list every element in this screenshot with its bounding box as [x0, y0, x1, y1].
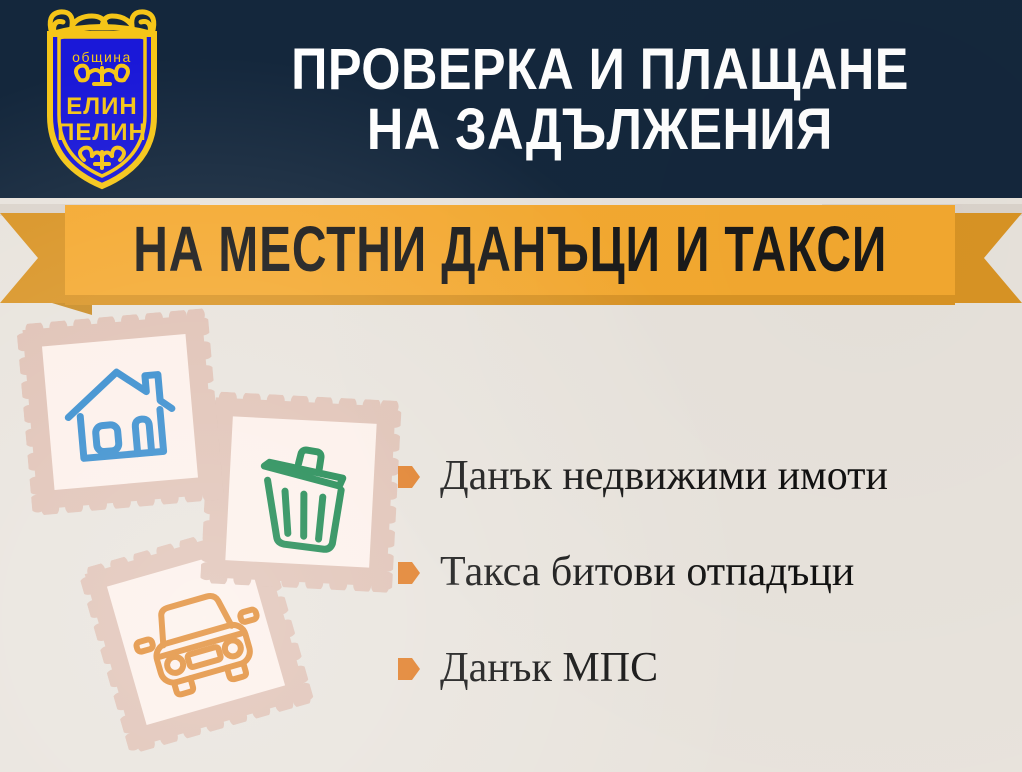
- stamp-scalloped-frame: [200, 391, 402, 593]
- title-line-2: НА ЗАДЪЛЖЕНИЯ: [367, 100, 833, 160]
- municipality-logo: община ЕЛИН ПЕЛИН: [22, 4, 182, 194]
- arrow-bullet-icon: [398, 560, 420, 586]
- stamp-card-property: [16, 308, 224, 516]
- list-item[interactable]: Данък недвижими имоти: [398, 428, 1018, 524]
- tax-type-list: Данък недвижими имоти Такса битови отпад…: [398, 428, 1018, 716]
- list-item-label: Данък МПС: [440, 646, 658, 690]
- ribbon-drop-shadow: [65, 295, 955, 305]
- list-item-label: Данък недвижими имоти: [440, 454, 888, 498]
- poster-canvas: община ЕЛИН ПЕЛИН ПРОВЕРКА И П: [0, 0, 1022, 772]
- list-item[interactable]: Такса битови отпадъци: [398, 524, 1018, 620]
- ribbon-label: НА МЕСТНИ ДАНЪЦИ И ТАКСИ: [133, 218, 887, 282]
- stamp-card-waste: [200, 391, 402, 593]
- list-item[interactable]: Данък МПС: [398, 620, 1018, 716]
- title-line-1: ПРОВЕРКА И ПЛАЩАНЕ: [291, 40, 909, 100]
- stamp-scalloped-frame: [16, 308, 224, 516]
- svg-text:община: община: [72, 49, 132, 65]
- subtitle-ribbon: НА МЕСТНИ ДАНЪЦИ И ТАКСИ: [0, 196, 1022, 314]
- ribbon-band: НА МЕСТНИ ДАНЪЦИ И ТАКСИ: [65, 205, 955, 295]
- list-item-label: Такса битови отпадъци: [440, 550, 854, 594]
- poster-title: ПРОВЕРКА И ПЛАЩАНЕ НА ЗАДЪЛЖЕНИЯ: [185, 14, 1015, 186]
- arrow-bullet-icon: [398, 464, 420, 490]
- arrow-bullet-icon: [398, 656, 420, 682]
- svg-text:ПЕЛИН: ПЕЛИН: [57, 119, 147, 146]
- svg-text:ЕЛИН: ЕЛИН: [66, 93, 137, 120]
